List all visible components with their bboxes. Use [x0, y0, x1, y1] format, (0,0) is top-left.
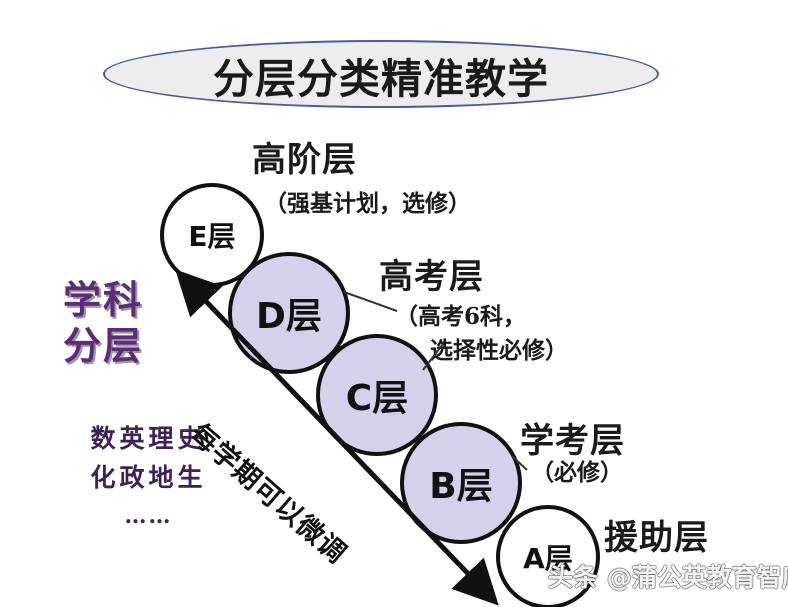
watermark: 头条 @蒲公英教育智库 — [548, 558, 788, 594]
subject-list-ellipsis: …… — [61, 503, 236, 529]
level-circle-c-label: C层 — [346, 369, 408, 421]
level-sub-advanced: （强基计划，选修） — [264, 190, 471, 219]
level-circle-e[interactable]: E层 — [160, 183, 264, 287]
level-sub-gaokao-line1: （高考6科， — [395, 303, 526, 332]
level-sub-xuekao: （必修） — [531, 459, 623, 488]
level-label-gaokao: 高考层 — [379, 249, 484, 298]
level-label-advanced: 高阶层 — [252, 132, 357, 181]
level-label-support: 援助层 — [604, 510, 709, 559]
level-label-xuekao: 学考层 — [520, 413, 625, 462]
level-circle-b-label: B层 — [429, 457, 492, 509]
level-sub-gaokao-line2: 选择性必修） — [430, 337, 568, 366]
level-circle-e-label: E层 — [188, 215, 235, 255]
slide-canvas: 分层分类精准教学 学科 分层 数英理史 化政地生 …… 每学期可以微调 E层 D… — [0, 0, 788, 607]
level-circle-d-label: D层 — [256, 287, 322, 339]
level-circle-b[interactable]: B层 — [400, 422, 522, 544]
page-title: 分层分类精准教学 — [103, 47, 659, 103]
left-heading-subject-layering: 学科 分层 — [63, 277, 143, 370]
